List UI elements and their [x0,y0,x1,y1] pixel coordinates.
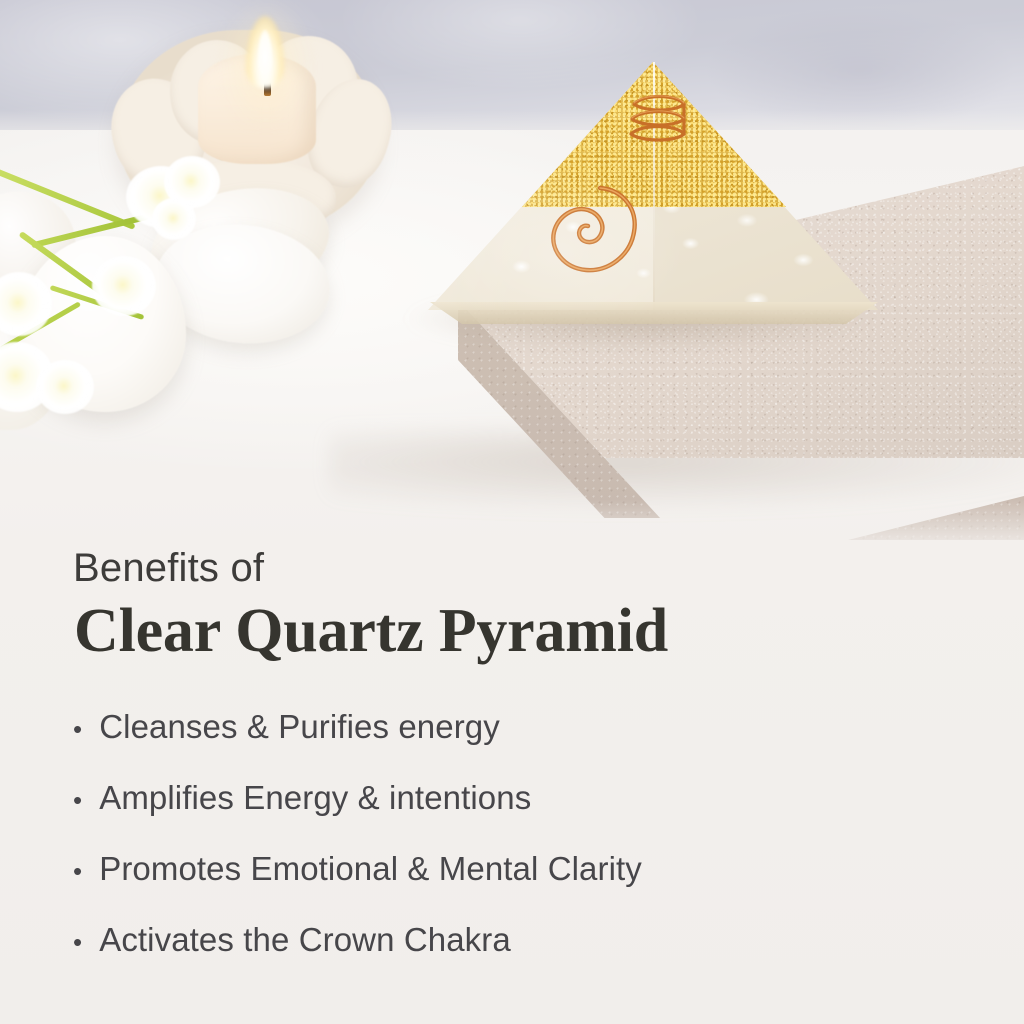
benefits-text-panel: Benefits of Clear Quartz Pyramid • Clean… [0,500,1024,1024]
product-photo [0,0,1024,540]
flower-bloom [152,198,196,240]
benefits-list: • Cleanses & Purifies energy • Amplifies… [73,708,933,992]
list-item: • Cleanses & Purifies energy [73,708,933,746]
kicker-text: Benefits of [73,546,264,591]
list-item: • Promotes Emotional & Mental Clarity [73,850,933,888]
benefit-text: Amplifies Energy & intentions [99,779,531,817]
benefit-text: Cleanses & Purifies energy [99,708,500,746]
benefit-text: Promotes Emotional & Mental Clarity [99,850,642,888]
bullet-marker-icon: • [73,716,82,742]
flower-bloom [36,360,94,414]
product-benefits-card: Benefits of Clear Quartz Pyramid • Clean… [0,0,1024,1024]
flower-bloom [92,256,156,316]
bullet-marker-icon: • [73,929,82,955]
bullet-marker-icon: • [73,787,82,813]
list-item: • Amplifies Energy & intentions [73,779,933,817]
page-title: Clear Quartz Pyramid [74,596,668,667]
orgonite-clear-quartz-pyramid [418,62,888,402]
benefit-text: Activates the Crown Chakra [99,921,511,959]
bullet-marker-icon: • [73,858,82,884]
copper-coil-icon [614,86,706,156]
list-item: • Activates the Crown Chakra [73,921,933,959]
pyramid-base-edge [426,302,882,326]
copper-spiral-icon [538,180,654,296]
